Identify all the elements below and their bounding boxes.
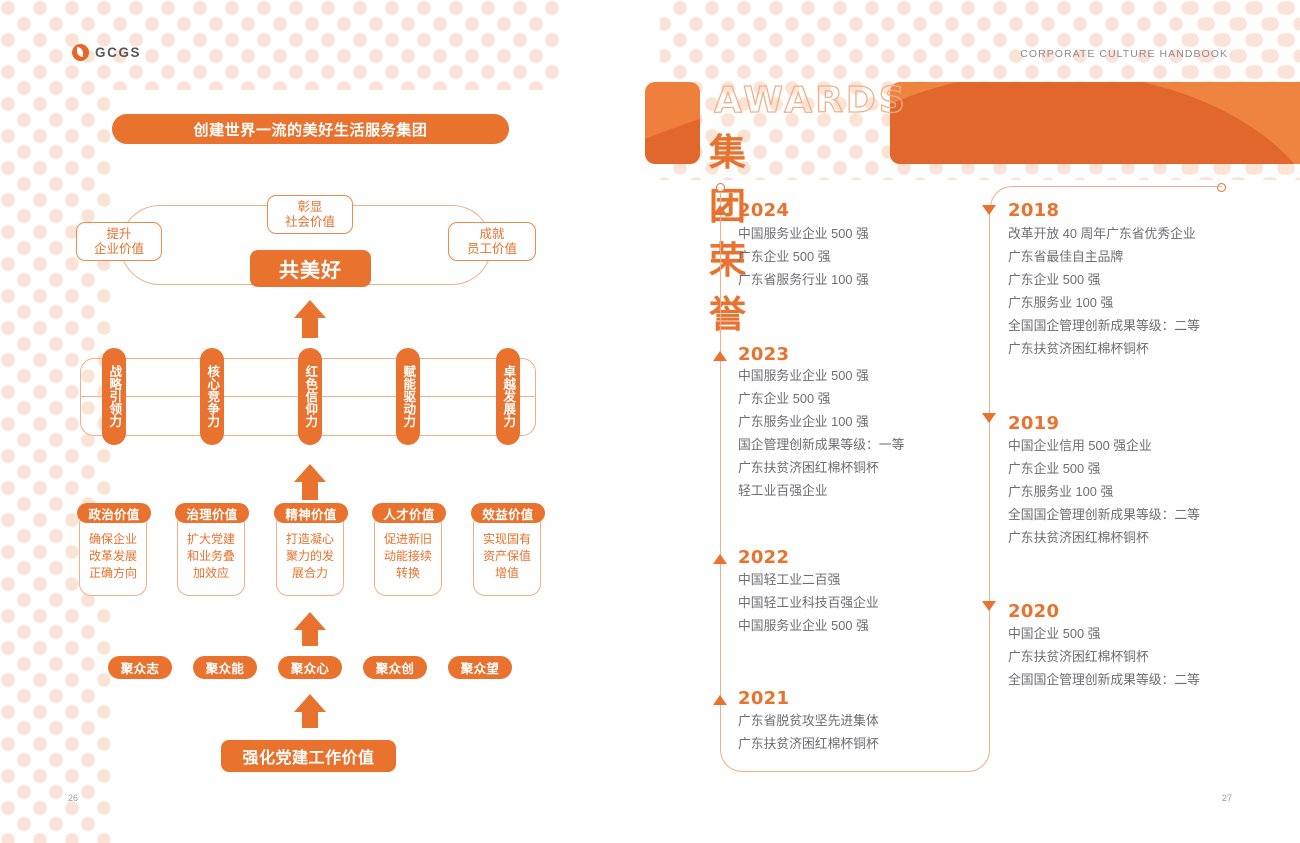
value-pill-employee: 成就 员工价值 [448, 222, 536, 261]
party-building-banner: 强化党建工作价值 [221, 740, 396, 772]
award-list-2021: 广东省脱贫攻坚先进集体 广东扶贫济困红棉杯铜杯 [738, 709, 879, 755]
value-card-title: 效益价值 [471, 503, 545, 523]
award-list-2019: 中国企业信用 500 强企业 广东企业 500 强 广东服务业 100 强 全国… [1008, 434, 1200, 549]
value-card-body: 促进新旧动能接续转换 [375, 531, 441, 582]
award-item: 广东企业 500 强 [738, 245, 869, 268]
year-label-2019: 2019 [1008, 413, 1059, 434]
timeline-rail-left [720, 190, 721, 705]
year-label-2020: 2020 [1008, 601, 1059, 622]
timeline-rail-right [989, 205, 990, 705]
core-value-badge: 共美好 [250, 250, 371, 287]
value-card-body: 实现国有资产保值增值 [474, 531, 540, 582]
gather-pill-4: 聚众创 [363, 656, 427, 679]
award-item: 中国轻工业二百强 [738, 568, 879, 591]
value-card-title: 人才价值 [372, 503, 446, 523]
award-list-2024: 中国服务业企业 500 强 广东企业 500 强 广东省服务行业 100 强 [738, 222, 869, 291]
value-card-body: 扩大党建和业务叠加效应 [178, 531, 244, 582]
value-card-title: 精神价值 [274, 503, 348, 523]
award-item: 广东扶贫济困红棉杯铜杯 [1008, 337, 1200, 360]
year-label-2021: 2021 [738, 688, 789, 709]
award-item: 广东省脱贫攻坚先进集体 [738, 709, 879, 732]
timeline-marker-2024 [713, 205, 727, 215]
arrow-head-4 [294, 694, 326, 712]
timeline-marker-2022 [713, 554, 727, 564]
timeline-marker-2023 [713, 351, 727, 361]
value-card-body: 打造凝心聚力的发展合力 [277, 531, 343, 582]
gather-pill-2: 聚众能 [193, 656, 257, 679]
timeline-marker-2021 [713, 695, 727, 705]
award-item: 广东企业 500 强 [1008, 457, 1200, 480]
value-card-talent: 人才价值 促进新旧动能接续转换 [374, 512, 442, 596]
award-item: 广东省服务行业 100 强 [738, 268, 869, 291]
award-item: 中国服务业企业 500 强 [738, 614, 879, 637]
handbook-label: CORPORATE CULTURE HANDBOOK [1020, 48, 1228, 60]
pill-line2: 企业价值 [94, 242, 144, 256]
award-item: 广东扶贫济困红棉杯铜杯 [738, 456, 904, 479]
value-card-political: 政治价值 确保企业改革发展正确方向 [79, 512, 147, 596]
award-list-2022: 中国轻工业二百强 中国轻工业科技百强企业 中国服务业企业 500 强 [738, 568, 879, 637]
award-item: 广东服务业 100 强 [1008, 291, 1200, 314]
award-item: 广东服务业 100 强 [1008, 480, 1200, 503]
award-list-2023: 中国服务业企业 500 强 广东企业 500 强 广东服务业企业 100 强 国… [738, 364, 904, 502]
handbook-spread: GCGS CORPORATE CULTURE HANDBOOK 26 27 创建… [0, 0, 1300, 843]
header-accent-block-right [890, 82, 1300, 164]
award-item: 广东扶贫济困红棉杯铜杯 [738, 732, 879, 755]
value-card-benefit: 效益价值 实现国有资产保值增值 [473, 512, 541, 596]
timeline-marker-2020 [982, 601, 996, 611]
capability-bar-3: 红色信仰力 [298, 348, 322, 445]
value-pill-enterprise: 提升 企业价值 [76, 222, 162, 261]
award-list-2020: 中国企业 500 强 广东扶贫济困红棉杯铜杯 全国国企管理创新成果等级：二等 [1008, 622, 1200, 691]
pill-line1: 提升 [106, 227, 131, 241]
gather-pill-1: 聚众志 [108, 656, 172, 679]
vision-banner: 创建世界一流的美好生活服务集团 [112, 114, 509, 144]
award-item: 轻工业百强企业 [738, 479, 904, 502]
award-item: 中国企业信用 500 强企业 [1008, 434, 1200, 457]
award-item: 中国轻工业科技百强企业 [738, 591, 879, 614]
header-accent-block-left [645, 82, 700, 164]
timeline-marker-2018 [982, 205, 996, 215]
award-item: 广东扶贫济困红棉杯铜杯 [1008, 526, 1200, 549]
pill-line1: 成就 [479, 227, 504, 241]
capability-bar-1: 战略引领力 [102, 348, 126, 445]
award-list-2018: 改革开放 40 周年广东省优秀企业 广东省最佳自主品牌 广东企业 500 强 广… [1008, 222, 1200, 360]
page-number-right: 27 [1222, 793, 1232, 803]
year-label-2023: 2023 [738, 344, 789, 365]
award-item: 改革开放 40 周年广东省优秀企业 [1008, 222, 1200, 245]
award-item: 广东服务业企业 100 强 [738, 410, 904, 433]
awards-title-en: AWARDS [714, 80, 908, 121]
award-item: 广东企业 500 强 [1008, 268, 1200, 291]
value-card-governance: 治理价值 扩大党建和业务叠加效应 [177, 512, 245, 596]
award-item: 广东省最佳自主品牌 [1008, 245, 1200, 268]
award-item: 国企管理创新成果等级：一等 [738, 433, 904, 456]
award-item: 全国国企管理创新成果等级：二等 [1008, 503, 1200, 526]
arrow-head-1 [294, 300, 326, 318]
value-card-body: 确保企业改革发展正确方向 [80, 531, 146, 582]
value-card-title: 政治价值 [77, 503, 151, 523]
award-item: 广东企业 500 强 [738, 387, 904, 410]
pill-line2: 社会价值 [285, 215, 335, 229]
capability-bar-5: 卓越发展力 [496, 348, 520, 445]
value-card-spirit: 精神价值 打造凝心聚力的发展合力 [276, 512, 344, 596]
year-label-2018: 2018 [1008, 200, 1059, 221]
award-item: 广东扶贫济困红棉杯铜杯 [1008, 645, 1200, 668]
arrow-head-3 [294, 612, 326, 630]
timeline-start-dot-left [716, 183, 725, 192]
gather-pill-3: 聚众心 [278, 656, 342, 679]
gather-pill-5: 聚众望 [448, 656, 512, 679]
year-label-2024: 2024 [738, 200, 789, 221]
value-card-title: 治理价值 [175, 503, 249, 523]
left-page: 创建世界一流的美好生活服务集团 提升 企业价值 彰显 社会价值 成就 员工价值 … [0, 0, 600, 843]
award-item: 中国企业 500 强 [1008, 622, 1200, 645]
award-item: 中国服务业企业 500 强 [738, 364, 904, 387]
timeline-marker-2019 [982, 413, 996, 423]
pill-line2: 员工价值 [467, 242, 517, 256]
capability-bar-4: 赋能驱动力 [396, 348, 420, 445]
arrow-head-2 [294, 464, 326, 482]
year-label-2022: 2022 [738, 547, 789, 568]
value-pill-social: 彰显 社会价值 [267, 195, 353, 234]
capability-bar-2: 核心竞争力 [200, 348, 224, 445]
award-item: 全国国企管理创新成果等级：二等 [1008, 314, 1200, 337]
award-item: 中国服务业企业 500 强 [738, 222, 869, 245]
pill-line1: 彰显 [297, 200, 322, 214]
award-item: 全国国企管理创新成果等级：二等 [1008, 668, 1200, 691]
